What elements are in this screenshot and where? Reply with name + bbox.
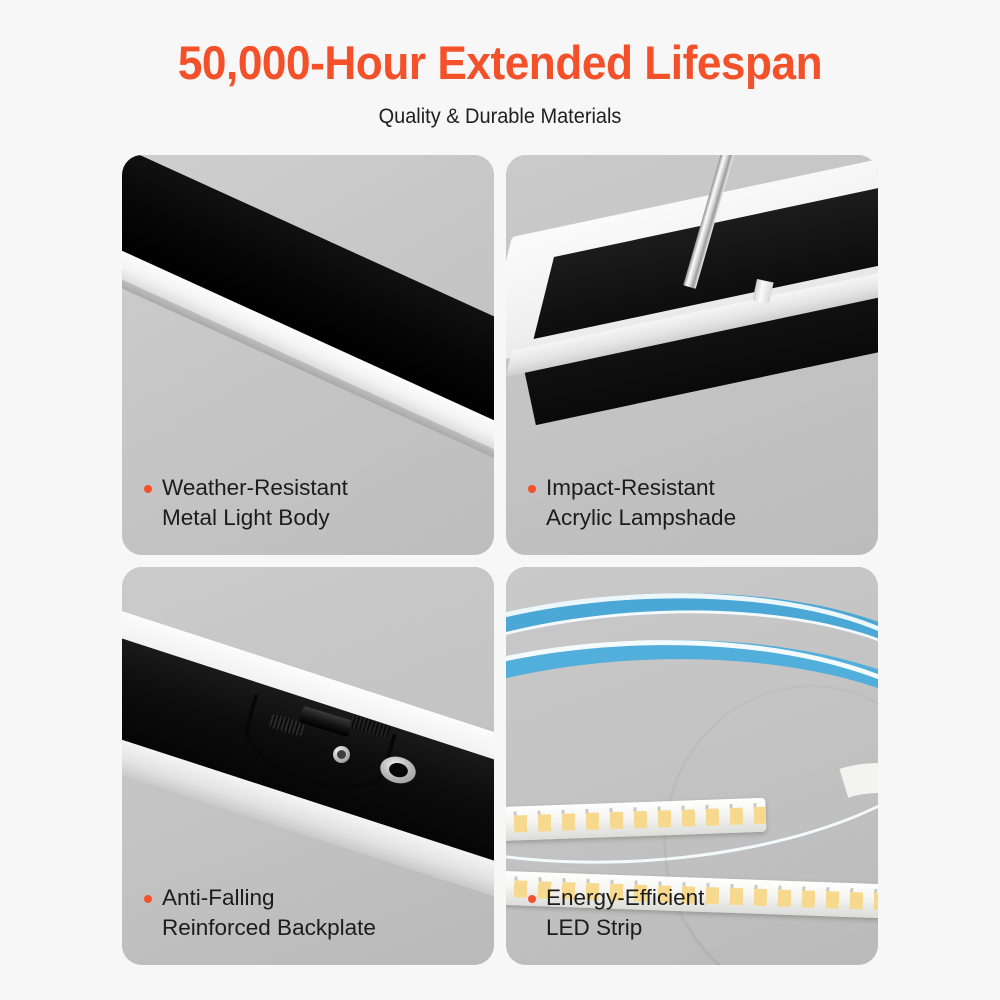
panel-caption: Energy-Efficient LED Strip — [528, 883, 704, 943]
panel-caption: Weather-Resistant Metal Light Body — [144, 473, 348, 533]
caption-text: Impact-Resistant Acrylic Lampshade — [546, 473, 736, 533]
caption-line-2: Metal Light Body — [162, 503, 348, 533]
feature-panel-anti-falling[interactable]: Anti-Falling Reinforced Backplate — [122, 567, 494, 965]
feature-panel-impact-resistant[interactable]: Impact-Resistant Acrylic Lampshade — [506, 155, 878, 555]
caption-text: Weather-Resistant Metal Light Body — [162, 473, 348, 533]
panel-caption: Anti-Falling Reinforced Backplate — [144, 883, 376, 943]
infographic-page: 50,000-Hour Extended Lifespan Quality & … — [0, 0, 1000, 1000]
bullet-dot-icon — [144, 485, 152, 493]
panel-caption: Impact-Resistant Acrylic Lampshade — [528, 473, 736, 533]
feature-panel-energy-efficient[interactable]: Energy-Efficient LED Strip — [506, 567, 878, 965]
feature-panel-weather-resistant[interactable]: Weather-Resistant Metal Light Body — [122, 155, 494, 555]
bullet-dot-icon — [144, 895, 152, 903]
caption-line-1: Impact-Resistant — [546, 475, 715, 500]
caption-text: Energy-Efficient LED Strip — [546, 883, 704, 943]
header: 50,000-Hour Extended Lifespan Quality & … — [0, 38, 1000, 129]
bullet-dot-icon — [528, 485, 536, 493]
bullet-dot-icon — [528, 895, 536, 903]
screw-icon — [333, 746, 350, 763]
caption-line-2: LED Strip — [546, 913, 704, 943]
feature-grid: Weather-Resistant Metal Light Body Impac… — [122, 155, 878, 965]
page-subtitle: Quality & Durable Materials — [25, 105, 975, 129]
caption-line-1: Anti-Falling — [162, 885, 275, 910]
page-title: 50,000-Hour Extended Lifespan — [30, 38, 970, 89]
caption-text: Anti-Falling Reinforced Backplate — [162, 883, 376, 943]
caption-line-2: Reinforced Backplate — [162, 913, 376, 943]
caption-line-2: Acrylic Lampshade — [546, 503, 736, 533]
caption-line-1: Energy-Efficient — [546, 885, 704, 910]
caption-line-1: Weather-Resistant — [162, 475, 348, 500]
